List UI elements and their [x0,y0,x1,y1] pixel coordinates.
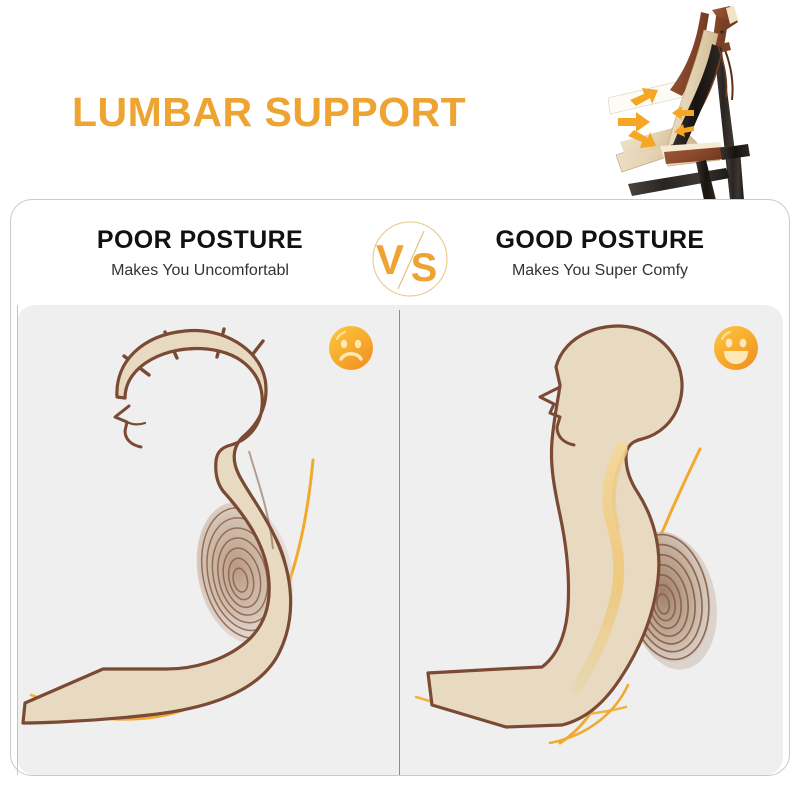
sad-face-icon [328,325,374,371]
happy-eye-right [740,339,747,348]
happy-face-icon [713,325,759,371]
happy-eye-left [726,339,733,348]
panel-poor-posture [17,305,400,775]
vs-letter-v: V [376,236,404,283]
poor-posture-title: POOR POSTURE [35,225,365,255]
good-posture-title: GOOD POSTURE [435,225,765,255]
chair-leg-diagonal [628,168,730,196]
panel-good-posture [400,305,783,775]
column-header-poor: POOR POSTURE Makes You Uncomfortabl [35,225,365,281]
good-posture-illustration [400,305,783,775]
sad-face-circle [329,326,373,370]
face-profile [115,406,141,447]
upright-figure-silhouette [428,326,682,727]
poor-posture-subtitle: Makes You Uncomfortabl [35,261,365,281]
sad-eye-left [341,340,347,348]
mouth-line [127,422,145,424]
good-posture-subtitle: Makes You Super Comfy [435,261,765,281]
vs-badge: V S [368,217,452,301]
vs-letter-s: S [411,246,438,290]
poster-stage: LUMBAR SUPPORT POOR POSTURE Makes You Un… [0,0,800,800]
page-title: LUMBAR SUPPORT [72,88,466,136]
sad-eye-right [355,340,361,348]
chair-rivet [720,30,724,34]
poor-posture-illustration [17,305,400,775]
panel-left-edge [17,305,18,775]
slouched-figure-silhouette [23,331,291,723]
column-header-good: GOOD POSTURE Makes You Super Comfy [435,225,765,281]
panel-divider [399,310,400,775]
chair-lumbar-support-photo [608,0,800,200]
arrow-right-large [618,112,650,132]
